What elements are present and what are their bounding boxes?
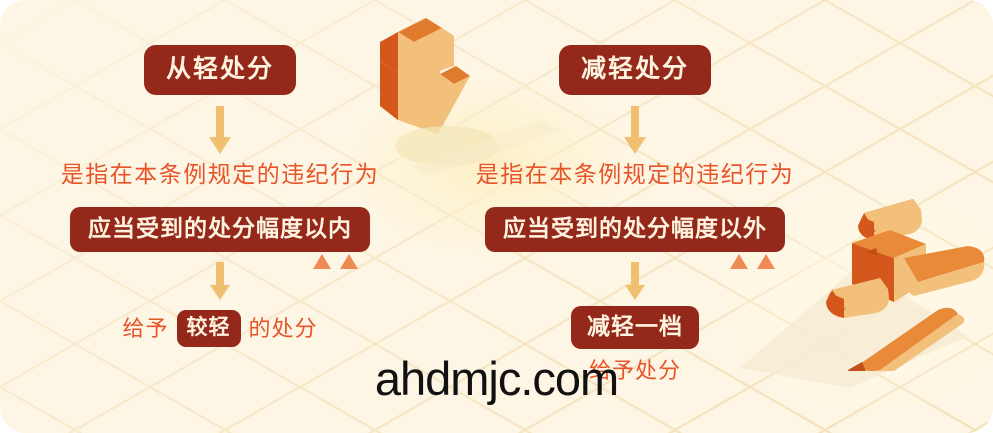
result-prefix-left: 给予: [122, 316, 168, 341]
triangle-marker-pair-left: [313, 254, 358, 269]
arrow-down-icon: [210, 262, 230, 302]
poster-canvas: 从轻处分 是指在本条例规定的违纪行为 应当受到的处分幅度以内 给予较轻的处分: [0, 0, 993, 433]
scope-badge-left: 应当受到的处分幅度以内: [70, 207, 370, 252]
triangle-up-icon: [757, 254, 775, 269]
triangle-marker-pair-right: [730, 254, 775, 269]
title-badge-left: 从轻处分: [144, 45, 296, 95]
triangle-up-icon: [730, 254, 748, 269]
result-badge-right: 减轻一档: [571, 306, 699, 349]
arrow-down-icon: [624, 106, 646, 156]
scope-badge-right: 应当受到的处分幅度以外: [485, 207, 785, 252]
arrow-down-icon: [209, 106, 231, 156]
watermark-text: ahdmjc.com: [0, 355, 993, 402]
definition-text-right: 是指在本条例规定的违纪行为: [476, 162, 795, 187]
result-line-left: 给予较轻的处分: [122, 314, 317, 339]
triangle-up-icon: [340, 254, 358, 269]
triangle-up-icon: [313, 254, 331, 269]
definition-text-left: 是指在本条例规定的违纪行为: [61, 162, 380, 187]
title-badge-right: 减轻处分: [559, 45, 711, 95]
result-keyword-badge-left: 较轻: [177, 310, 241, 347]
arrow-down-icon: [625, 262, 645, 302]
result-suffix-left: 的处分: [249, 316, 318, 341]
